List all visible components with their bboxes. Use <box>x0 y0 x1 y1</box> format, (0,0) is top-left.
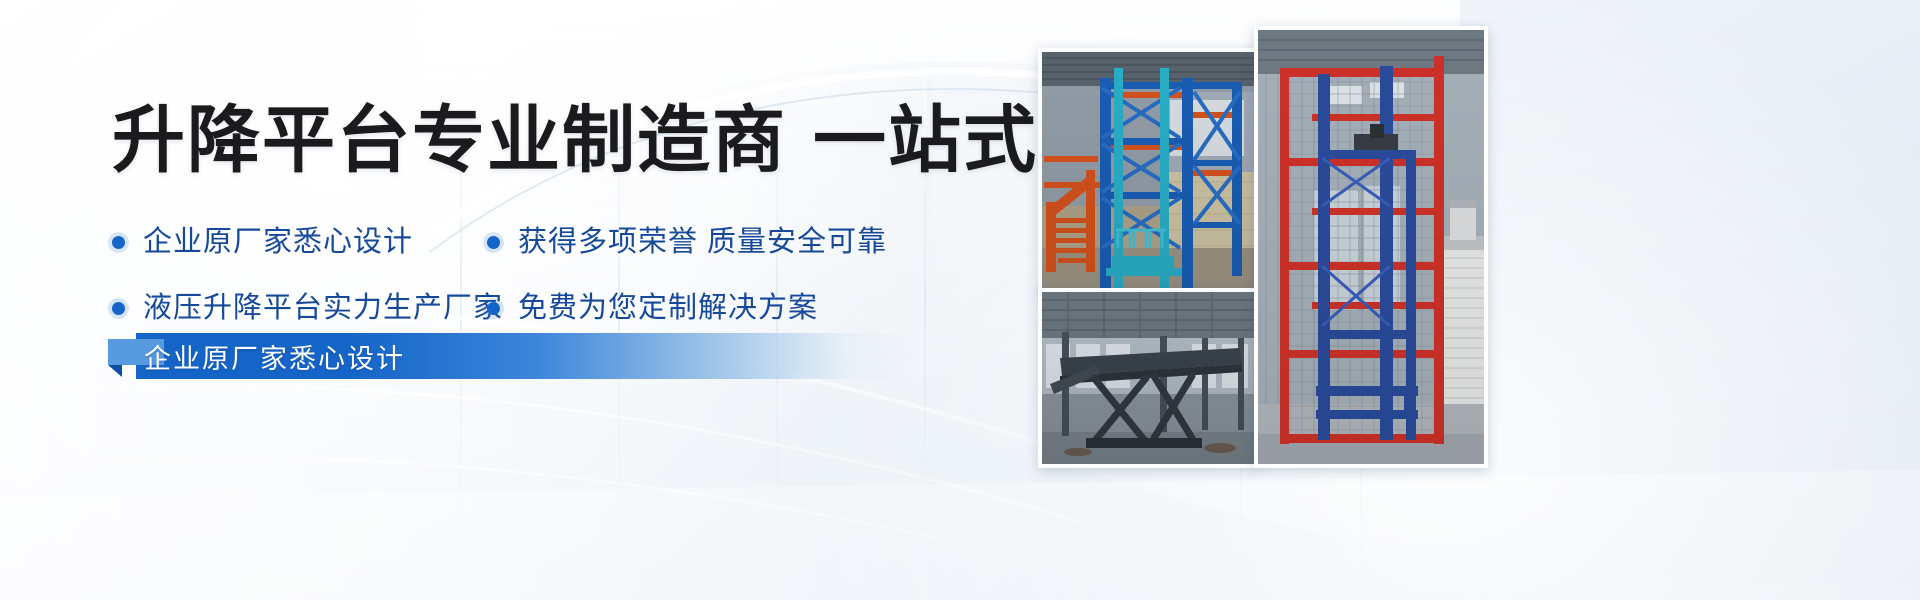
ribbon-label: 企业原厂家悉心设计 <box>144 333 405 379</box>
highlight-ribbon: 企业原厂家悉心设计 <box>108 333 908 379</box>
product-photo-racking-lift <box>1038 48 1258 292</box>
feature-row: 企业原厂家悉心设计 获得多项荣誉 质量安全可靠 <box>112 213 942 271</box>
list-item: 液压升降平台实力生产厂家 <box>112 294 487 323</box>
bullet-dot-icon <box>112 302 125 315</box>
feature-label: 液压升降平台实力生产厂家 <box>143 294 503 323</box>
product-photo-guide-rail-lift <box>1254 26 1488 468</box>
bullet-dot-icon <box>487 236 500 249</box>
product-photo-collage <box>1032 0 1920 600</box>
list-item: 免费为您定制解决方案 <box>487 294 818 323</box>
headline-segment-1: 升降平台专业制造商 <box>112 100 787 181</box>
copy-block: 升降平台专业制造商一站式配套服务 企业原厂家悉心设计 获得多项荣誉 质量安全可靠… <box>0 0 1030 600</box>
feature-label: 企业原厂家悉心设计 <box>143 228 413 257</box>
promo-banner: 升降平台专业制造商一站式配套服务 企业原厂家悉心设计 获得多项荣誉 质量安全可靠… <box>0 0 1920 600</box>
list-item: 获得多项荣誉 质量安全可靠 <box>487 228 887 257</box>
ribbon-fold-icon <box>108 365 122 377</box>
product-photo-scissor-lift <box>1038 288 1258 468</box>
bullet-dot-icon <box>112 236 125 249</box>
feature-label: 免费为您定制解决方案 <box>518 294 818 323</box>
list-item: 企业原厂家悉心设计 <box>112 228 487 257</box>
bullet-dot-icon <box>487 302 500 315</box>
feature-label: 获得多项荣誉 质量安全可靠 <box>518 228 887 257</box>
feature-row: 液压升降平台实力生产厂家 免费为您定制解决方案 <box>112 279 942 337</box>
feature-list: 企业原厂家悉心设计 获得多项荣誉 质量安全可靠 液压升降平台实力生产厂家 免费为… <box>112 213 942 345</box>
